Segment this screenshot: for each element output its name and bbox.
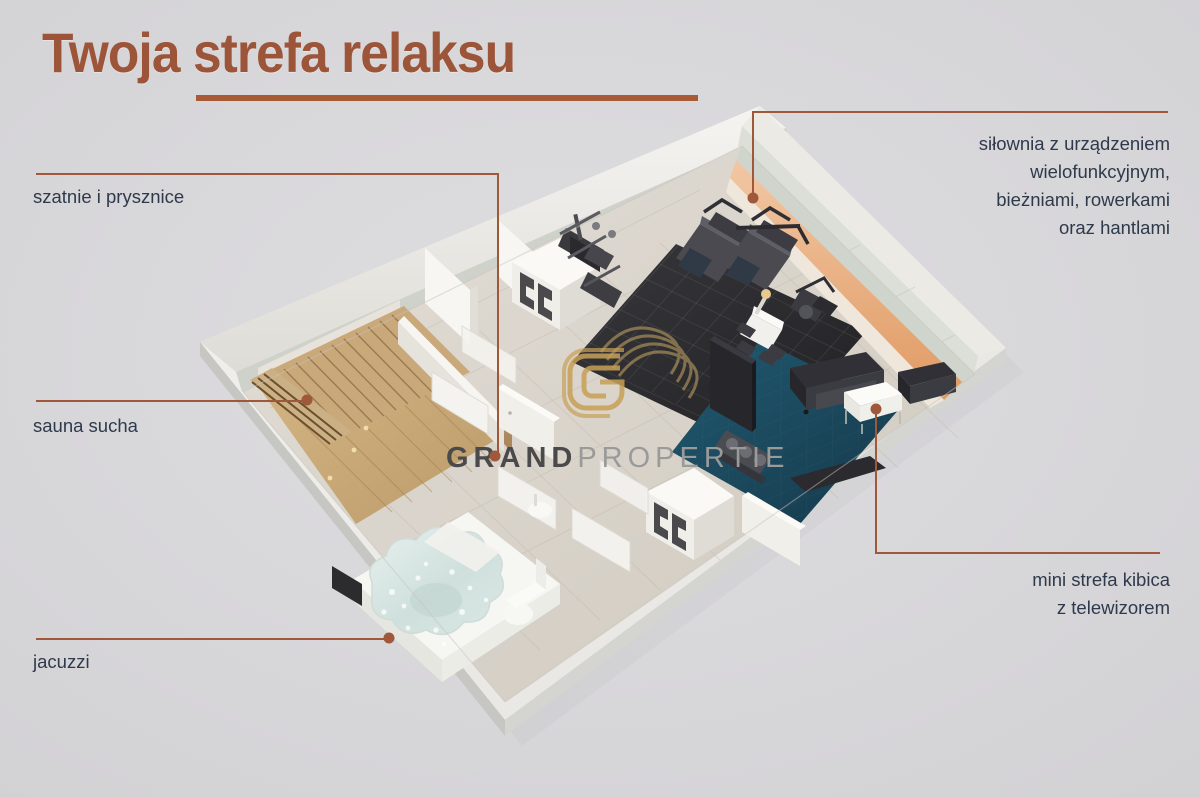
watermark: GRANDPROPERTIE [448, 330, 748, 490]
leader-line-kibica-vertical [875, 409, 877, 552]
leader-dot-kibica [871, 404, 882, 415]
grand-properties-g-logo-icon [544, 330, 648, 434]
callout-label-szatnie: szatnie i prysznice [33, 183, 184, 211]
leader-line-kibica-horizontal [875, 552, 1160, 554]
title-underline [196, 95, 698, 101]
leader-dot-szatnie [490, 451, 501, 462]
callout-label-silownia: siłownia z urządzeniem wielofunkcyjnym, … [905, 130, 1170, 242]
leader-line-silownia-vertical [752, 111, 754, 198]
leader-line-silownia-horizontal [752, 111, 1168, 113]
page-title: Twoja strefa relaksu [42, 20, 515, 85]
leader-dot-silownia [748, 193, 759, 204]
leader-dot-sauna [302, 395, 313, 406]
callout-label-jacuzzi: jacuzzi [33, 648, 90, 676]
leader-line-sauna-horizontal [36, 400, 310, 402]
leader-line-szatnie-horizontal [36, 173, 499, 175]
callout-label-kibica: mini strefa kibica z telewizorem [905, 566, 1170, 622]
watermark-brand-light: PROPERTIE [577, 442, 789, 474]
callout-label-sauna: sauna sucha [33, 412, 138, 440]
leader-line-szatnie-vertical [497, 173, 499, 456]
watermark-brand-bold: GRAND [446, 442, 577, 474]
relaxation-zone-infographic: Twoja strefa relaksu [0, 0, 1200, 797]
leader-dot-jacuzzi [384, 633, 395, 644]
leader-line-jacuzzi-horizontal [36, 638, 390, 640]
